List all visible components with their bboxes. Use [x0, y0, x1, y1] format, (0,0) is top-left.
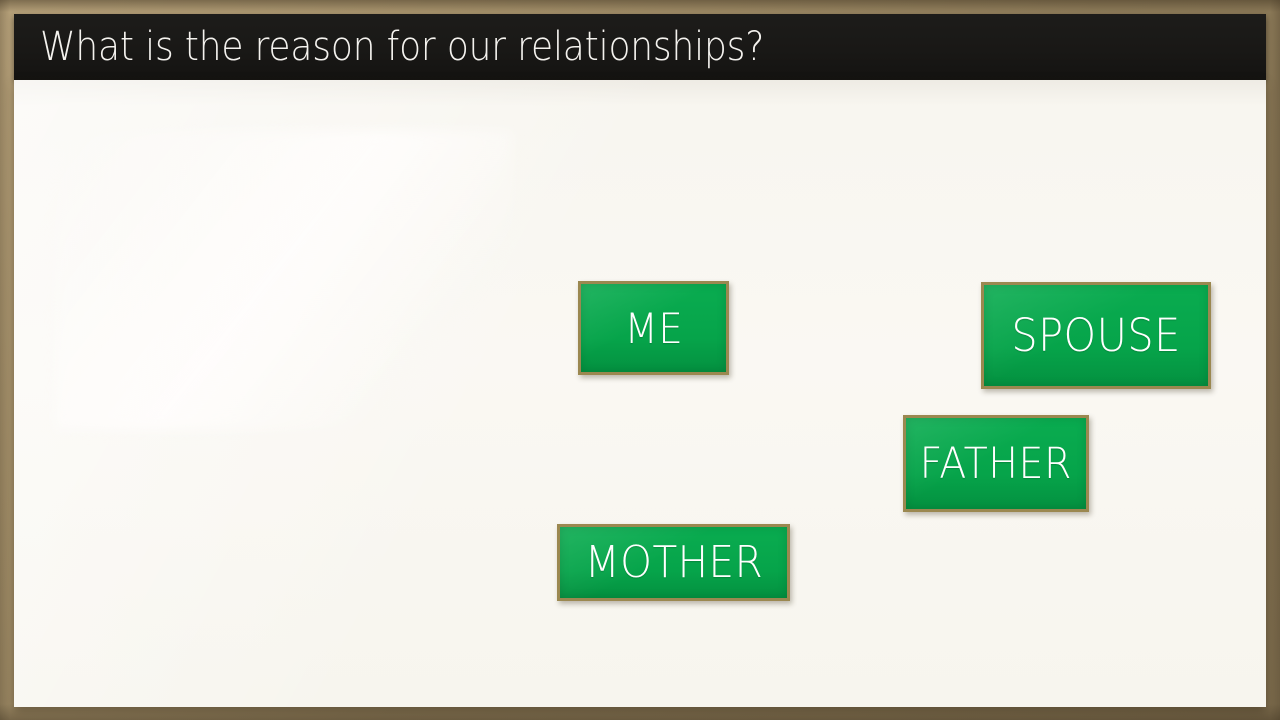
relationship-box-mother[interactable]: MOTHER [557, 524, 790, 601]
slide-title-bar: What is the reason for our relationships… [14, 14, 1266, 80]
relationship-box-father[interactable]: FATHER [903, 415, 1089, 512]
background-sheen [54, 130, 514, 430]
relationship-box-spouse[interactable]: SPOUSE [981, 282, 1211, 389]
relationship-box-father-label: FATHER [920, 439, 1072, 489]
slide-title: What is the reason for our relationships… [40, 24, 764, 70]
relationship-box-spouse-label: SPOUSE [1011, 309, 1180, 362]
relationship-box-me[interactable]: ME [578, 281, 729, 375]
relationship-box-mother-label: MOTHER [584, 537, 762, 588]
relationship-box-me-label: ME [624, 304, 683, 353]
slide-content-area: ME SPOUSE FATHER MOTHER [14, 80, 1266, 707]
slide-frame: What is the reason for our relationships… [0, 0, 1280, 720]
